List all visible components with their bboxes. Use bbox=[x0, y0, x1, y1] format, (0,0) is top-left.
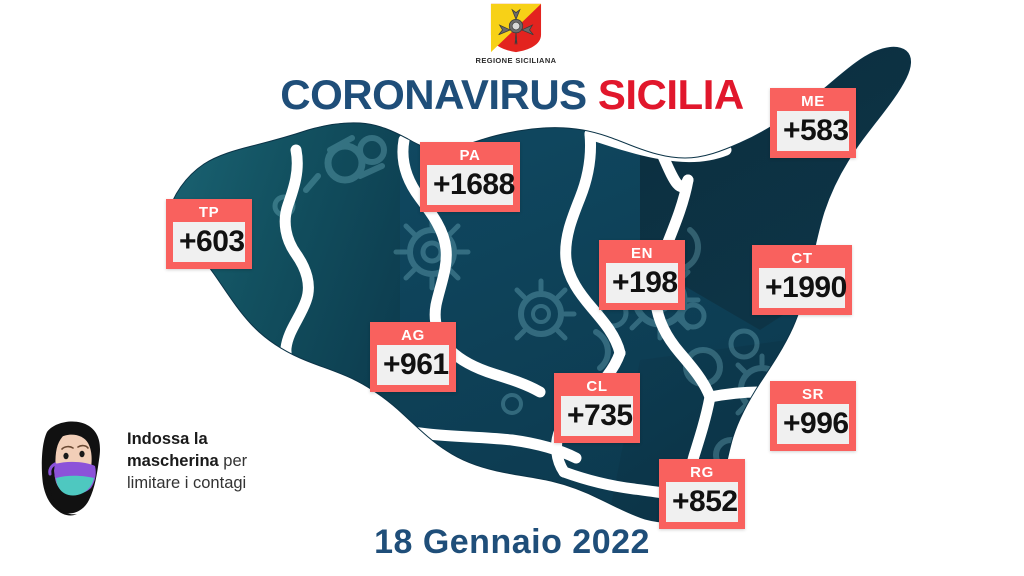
stat-box-ct: CT+1990 bbox=[752, 245, 852, 315]
stat-value-label: +583 bbox=[777, 111, 849, 151]
title-word-sicilia: SICILIA bbox=[598, 71, 744, 118]
date-label: 18 Gennaio 2022 bbox=[0, 523, 1024, 562]
page-title: CORONAVIRUS SICILIA bbox=[0, 74, 1024, 116]
stat-code-label: PA bbox=[427, 147, 513, 165]
stat-box-me: ME+583 bbox=[770, 88, 856, 158]
mask-text-line3: limitare i contagi bbox=[127, 474, 246, 492]
stat-value-label: +852 bbox=[666, 482, 738, 522]
stat-box-tp: TP+603 bbox=[166, 199, 252, 269]
trinacria-shield-icon bbox=[487, 2, 545, 54]
mask-reminder-text: Indossa la mascherina per limitare i con… bbox=[127, 428, 302, 494]
province-borders bbox=[285, 134, 804, 502]
stat-code-label: SR bbox=[777, 386, 849, 404]
stat-code-label: EN bbox=[606, 245, 678, 263]
logo-caption: REGIONE SICILIANA bbox=[470, 56, 562, 65]
mask-text-line1: Indossa la bbox=[127, 430, 208, 448]
stat-box-pa: PA+1688 bbox=[420, 142, 520, 212]
stat-box-ag: AG+961 bbox=[370, 322, 456, 392]
stat-code-label: TP bbox=[173, 204, 245, 222]
stat-value-label: +961 bbox=[377, 345, 449, 385]
regione-siciliana-logo: REGIONE SICILIANA bbox=[470, 2, 562, 65]
stat-box-rg: RG+852 bbox=[659, 459, 745, 529]
stat-value-label: +735 bbox=[561, 396, 633, 436]
stat-value-label: +1688 bbox=[427, 165, 513, 205]
stat-value-label: +198 bbox=[606, 263, 678, 303]
mask-text-line2-bold: mascherina bbox=[127, 452, 219, 470]
title-word-coronavirus: CORONAVIRUS bbox=[280, 71, 586, 118]
stat-code-label: AG bbox=[377, 327, 449, 345]
stat-box-sr: SR+996 bbox=[770, 381, 856, 451]
woman-wearing-mask-illustration bbox=[25, 418, 120, 518]
stat-code-label: CT bbox=[759, 250, 845, 268]
stat-value-label: +603 bbox=[173, 222, 245, 262]
stat-value-label: +1990 bbox=[759, 268, 845, 308]
stat-code-label: ME bbox=[777, 93, 849, 111]
stat-code-label: CL bbox=[561, 378, 633, 396]
mask-text-line2-rest: per bbox=[219, 452, 247, 470]
stat-code-label: RG bbox=[666, 464, 738, 482]
stat-box-en: EN+198 bbox=[599, 240, 685, 310]
mask-reminder: Indossa la mascherina per limitare i con… bbox=[25, 418, 295, 523]
stat-value-label: +996 bbox=[777, 404, 849, 444]
stat-box-cl: CL+735 bbox=[554, 373, 640, 443]
